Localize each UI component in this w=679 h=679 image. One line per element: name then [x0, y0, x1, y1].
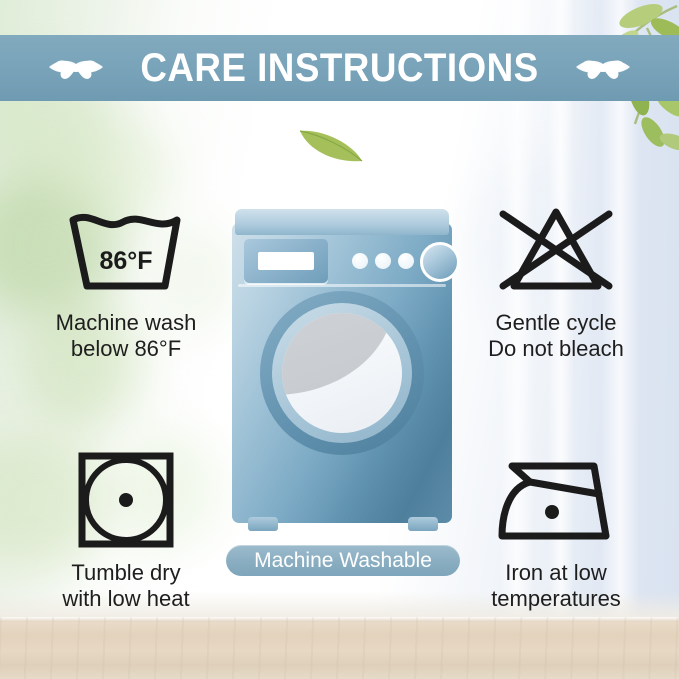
detergent-drawer-slot — [258, 252, 314, 270]
do-not-bleach-caption: Gentle cycle Do not bleach — [436, 310, 676, 361]
header-banner: CARE INSTRUCTIONS — [0, 35, 679, 101]
machine-washable-label: Machine Washable — [254, 549, 432, 573]
crossed-triangle-icon — [481, 200, 631, 300]
floating-leaf-icon — [296, 121, 366, 165]
iron-caption: Iron at low temperatures — [436, 560, 676, 611]
tumble-dry-symbol — [6, 446, 246, 554]
care-symbol-do-not-bleach: Gentle cycle Do not bleach — [436, 196, 676, 361]
indicator-dot — [375, 253, 391, 269]
machine-panel-divider — [238, 284, 446, 287]
iron-symbol — [436, 446, 676, 554]
machine-top-lid — [235, 209, 449, 235]
indicator-dot — [398, 253, 414, 269]
wood-grain — [0, 617, 679, 679]
fleur-de-lis-icon — [45, 46, 107, 90]
washing-machine-illustration — [232, 209, 452, 536]
tumble-dry-square-icon — [74, 448, 178, 552]
door-glass — [282, 313, 402, 433]
machine-washable-badge: Machine Washable — [226, 545, 460, 576]
machine-wash-caption: Machine wash below 86°F — [6, 310, 246, 361]
door-glass-highlight — [282, 313, 394, 395]
care-symbol-machine-wash: 86°F Machine wash below 86°F — [6, 196, 246, 361]
wash-temperature-value: 86°F — [61, 247, 191, 276]
page-title: CARE INSTRUCTIONS — [140, 46, 538, 91]
machine-foot — [408, 517, 438, 531]
care-symbol-iron: Iron at low temperatures — [436, 446, 676, 611]
fleur-de-lis-icon — [572, 46, 634, 90]
indicator-dot — [352, 253, 368, 269]
iron-icon — [486, 450, 626, 550]
detergent-drawer — [244, 239, 328, 283]
machine-foot — [248, 517, 278, 531]
care-symbol-tumble-dry: Tumble dry with low heat — [6, 446, 246, 611]
machine-wash-symbol: 86°F — [6, 196, 246, 304]
do-not-bleach-symbol — [436, 196, 676, 304]
tumble-dry-caption: Tumble dry with low heat — [6, 560, 246, 611]
